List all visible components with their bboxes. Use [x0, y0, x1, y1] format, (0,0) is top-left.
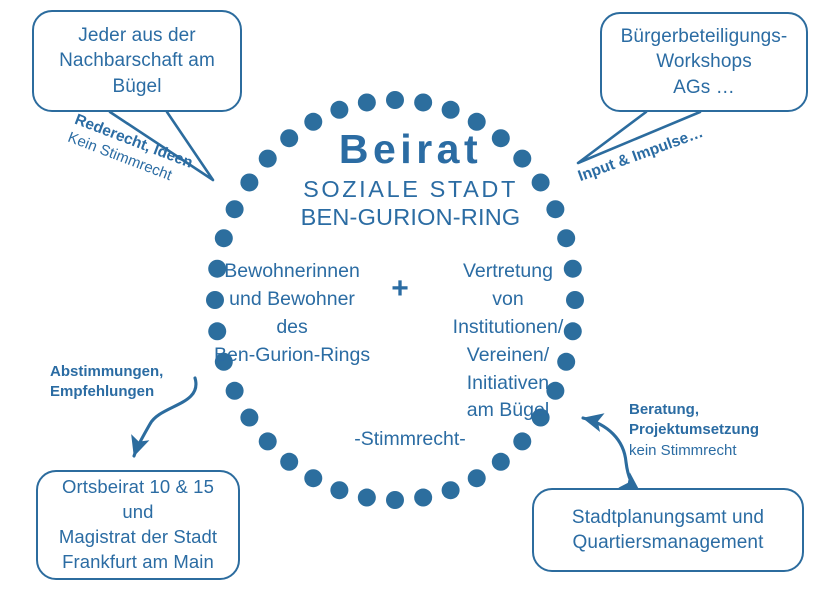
caption-beratung-regular: kein Stimmrecht	[629, 441, 759, 461]
subtitle-soziale-stadt: SOZIALE STADT	[243, 176, 578, 203]
members-residents-line-4: Ben-Gurion-Rings	[205, 342, 379, 370]
ring-dot	[386, 91, 404, 109]
box-planning-office-line-2: Quartiersmanagement	[544, 530, 792, 555]
box-local-council[interactable]: Ortsbeirat 10 & 15 und Magistrat der Sta…	[36, 470, 240, 580]
box-local-council-line-1: Ortsbeirat 10 & 15	[48, 475, 228, 500]
ring-dot	[557, 229, 575, 247]
bubble-neighbourhood-line-1: Jeder aus der	[44, 23, 230, 48]
bubble-participation-line-1: Bürgerbeteiligungs-	[612, 24, 796, 49]
caption-abstimmungen-line-2: Empfehlungen	[50, 382, 163, 402]
ring-dot	[468, 469, 486, 487]
members-residents-line-3: des	[205, 314, 379, 342]
voting-rights-note: -Stimmrecht-	[300, 428, 520, 451]
ring-dot	[414, 93, 432, 111]
members-institutions-line-3: Institutionen/	[421, 314, 595, 342]
ring-dot	[330, 481, 348, 499]
caption-abstimmungen: Abstimmungen, Empfehlungen	[50, 362, 163, 403]
ring-dot	[442, 101, 460, 119]
subtitle-ben-gurion-ring: BEN-GURION-RING	[243, 203, 578, 231]
bubble-participation-line-2: Workshops	[612, 49, 796, 74]
page-title: Beirat	[243, 128, 578, 171]
center-title-group: Beirat SOZIALE STADT BEN-GURION-RING	[243, 128, 578, 231]
bubble-participation-line-3: AGs …	[612, 75, 796, 100]
box-local-council-line-2: und	[48, 500, 228, 525]
members-institutions-line-4: Vereinen/	[421, 342, 595, 370]
box-local-council-line-3: Magistrat der Stadt	[48, 525, 228, 550]
caption-beratung-line-2: Projektumsetzung	[629, 420, 759, 440]
ring-dot	[442, 481, 460, 499]
bubble-participation[interactable]: Bürgerbeteiligungs- Workshops AGs …	[600, 12, 808, 112]
ring-dot	[330, 101, 348, 119]
diagram-canvas: Jeder aus der Nachbarschaft am Bügel Bür…	[0, 0, 820, 600]
box-planning-office-line-1: Stadtplanungsamt und	[544, 505, 792, 530]
bubble-neighbourhood[interactable]: Jeder aus der Nachbarschaft am Bügel	[32, 10, 242, 112]
members-institutions-line-6: am Bügel	[421, 397, 595, 425]
members-institutions-line-1: Vertretung	[421, 258, 595, 286]
bubble-neighbourhood-line-2: Nachbarschaft am	[44, 48, 230, 73]
plus-icon: +	[379, 258, 421, 304]
caption-beratung: Beratung, Projektumsetzung kein Stimmrec…	[629, 400, 759, 461]
members-institutions-line-2: von	[421, 286, 595, 314]
ring-dot	[492, 453, 510, 471]
members-group: Bewohnerinnen und Bewohner des Ben-Gurio…	[205, 258, 595, 425]
box-local-council-line-4: Frankfurt am Main	[48, 550, 228, 575]
ring-dot	[358, 93, 376, 111]
ring-dot	[358, 489, 376, 507]
ring-dot	[414, 489, 432, 507]
box-planning-office[interactable]: Stadtplanungsamt und Quartiersmanagement	[532, 488, 804, 572]
caption-beratung-line-1: Beratung,	[629, 400, 759, 420]
ring-dot	[386, 491, 404, 509]
ring-dot	[304, 469, 322, 487]
members-residents-line-1: Bewohnerinnen	[205, 258, 379, 286]
members-residents: Bewohnerinnen und Bewohner des Ben-Gurio…	[205, 258, 379, 370]
ring-dot	[215, 229, 233, 247]
members-residents-line-2: und Bewohner	[205, 286, 379, 314]
ring-dot	[280, 453, 298, 471]
bubble-neighbourhood-line-3: Bügel	[44, 74, 230, 99]
members-institutions-line-5: Initiativen	[421, 370, 595, 398]
ring-dot	[259, 432, 277, 450]
ring-dot	[226, 200, 244, 218]
caption-abstimmungen-line-1: Abstimmungen,	[50, 362, 163, 382]
members-institutions: Vertretung von Institutionen/ Vereinen/ …	[421, 258, 595, 425]
